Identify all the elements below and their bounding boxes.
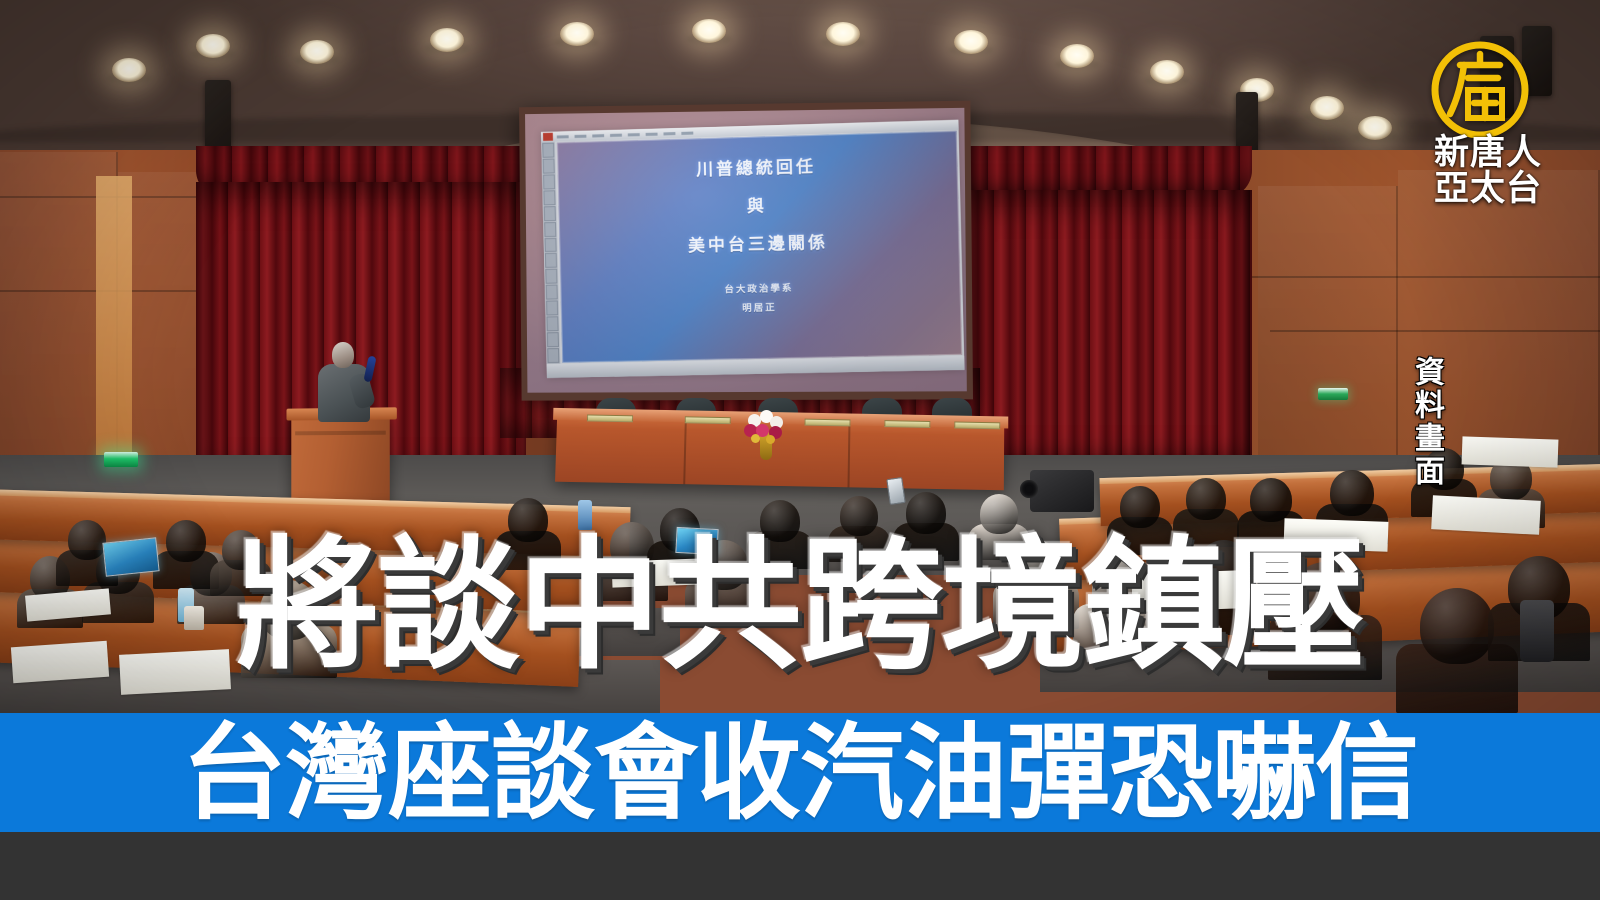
slide-thumbnail [543, 158, 555, 173]
app-logo-icon [543, 133, 553, 141]
ceiling-downlight [430, 28, 464, 52]
ceiling-downlight [196, 34, 230, 58]
slide-thumbnail [545, 253, 557, 268]
name-plate [685, 416, 731, 424]
slide-thumbnail [546, 316, 558, 331]
projection-surface: 川普總統回任 與 美中台三邊關係 台大政治學系 明居正 [525, 108, 967, 393]
headline-banner: 台灣座談會收汽油彈恐嚇信 [0, 713, 1600, 832]
ceiling-downlight [300, 40, 334, 64]
handout-paper [1431, 495, 1541, 535]
name-plate [804, 419, 850, 427]
flower [751, 434, 760, 443]
audience-member-head [1186, 478, 1226, 520]
station-name: 新唐人 亞太台 [1392, 136, 1584, 207]
bottom-bar [0, 832, 1600, 900]
slide-content: 川普總統回任 與 美中台三邊關係 台大政治學系 明居正 [557, 131, 962, 363]
slide-thumbnail [545, 237, 557, 252]
slide-thumbnail [544, 222, 556, 237]
name-plate [954, 421, 1000, 429]
wall-panel [1258, 186, 1398, 486]
slide-thumbnail [546, 301, 558, 316]
ceiling-downlight [954, 30, 988, 54]
presentation-window: 川普總統回任 與 美中台三邊關係 台大政治學系 明居正 [541, 120, 965, 378]
flower-arrangement [742, 410, 788, 462]
video-frame: 川普總統回任 與 美中台三邊關係 台大政治學系 明居正 [0, 0, 1600, 832]
flower [766, 435, 775, 444]
smartphone [886, 477, 905, 505]
video-camera [1030, 470, 1094, 512]
ntd-seal-icon [1424, 38, 1536, 146]
file-footage-label: 資料畫面 [1404, 356, 1448, 488]
audience-member-head [1250, 478, 1292, 522]
ceiling-downlight [1060, 44, 1094, 68]
name-plate [884, 420, 930, 428]
slide-thumbnail [547, 332, 559, 347]
slide-presenter: 明居正 [742, 299, 777, 314]
slide-thumbnail [545, 269, 557, 284]
audience-member-head [1330, 470, 1374, 516]
ceiling-downlight [1150, 60, 1184, 84]
table-divider [683, 422, 687, 484]
slide-affiliation: 台大政治學系 [724, 280, 793, 296]
slide-thumbnail [547, 348, 559, 363]
ceiling-downlight [1310, 96, 1344, 120]
station-logo: 新唐人 亞太台 [1392, 38, 1584, 206]
slide-thumbnail [543, 174, 555, 189]
slide-thumbnail [544, 206, 556, 221]
slide-thumbnail [543, 190, 555, 205]
wall-highlight [96, 176, 132, 476]
ceiling-downlight [1358, 116, 1392, 140]
slide-title-line3: 美中台三邊關係 [688, 228, 829, 256]
slide-title-line2: 與 [747, 191, 768, 217]
ceiling-downlight [692, 19, 726, 43]
headline-secondary: 台灣座談會收汽油彈恐嚇信 [182, 721, 1418, 825]
table-divider [847, 425, 850, 487]
station-name-line1: 新唐人 [1392, 136, 1584, 172]
exit-sign-icon [1318, 388, 1348, 400]
exit-sign-icon [104, 452, 138, 467]
ceiling-downlight [826, 22, 860, 46]
name-plate [587, 414, 633, 422]
ceiling-downlight [560, 22, 594, 46]
slide-title-line1: 川普總統回任 [696, 152, 817, 180]
podium-groove [295, 431, 386, 436]
broadcast-screenshot: 川普總統回任 與 美中台三邊關係 台大政治學系 明居正 [0, 0, 1600, 900]
ceiling-downlight [112, 58, 146, 82]
slide-thumbnail [542, 143, 554, 158]
speaker-head [332, 342, 354, 368]
slide-thumbnail [546, 285, 558, 300]
headline-primary: 將談中共跨境鎮壓 [0, 534, 1600, 677]
projection-screen: 川普總統回任 與 美中台三邊關係 台大政治學系 明居正 [519, 101, 973, 401]
handout-paper [1462, 436, 1559, 467]
station-name-line2: 亞太台 [1392, 172, 1584, 208]
